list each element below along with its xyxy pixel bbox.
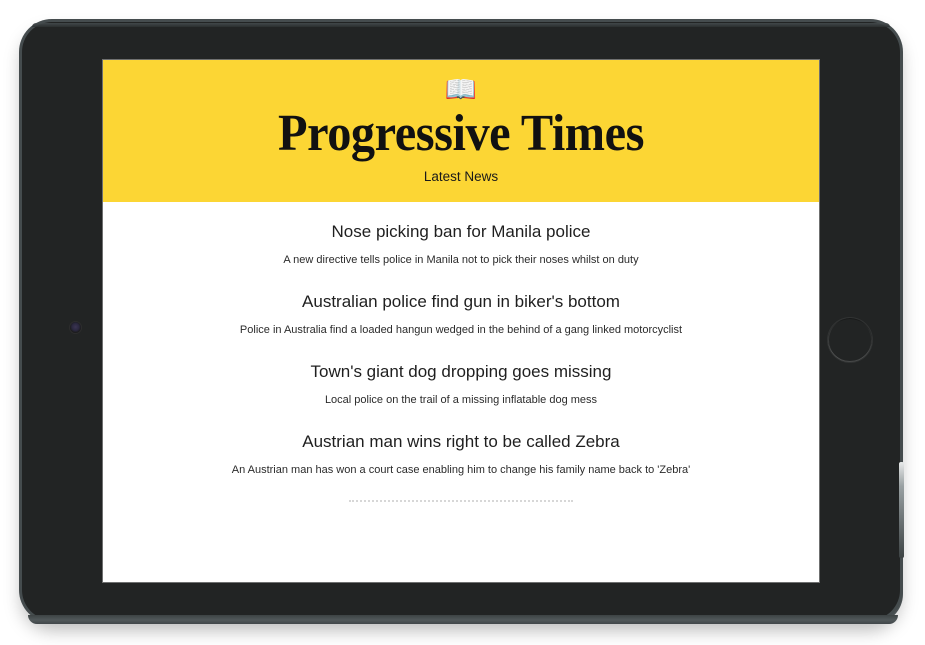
tablet-device: 📖 Progressive Times Latest News Nose pic… <box>22 22 900 620</box>
list-item[interactable]: Nose picking ban for Manila police A new… <box>103 220 819 268</box>
page-title: Progressive Times <box>128 106 794 162</box>
power-button[interactable] <box>899 462 904 558</box>
article-headline[interactable]: Australian police find gun in biker's bo… <box>203 290 719 314</box>
article-headline[interactable]: Town's giant dog dropping goes missing <box>203 360 719 384</box>
article-summary: Local police on the trail of a missing i… <box>205 392 717 408</box>
masthead: 📖 Progressive Times Latest News <box>103 60 819 202</box>
list-item[interactable]: Australian police find gun in biker's bo… <box>103 290 819 338</box>
device-bottom-edge <box>28 615 898 624</box>
home-button[interactable] <box>828 318 872 362</box>
device-scene: 📖 Progressive Times Latest News Nose pic… <box>0 0 925 645</box>
list-divider <box>349 500 573 502</box>
tablet-screen: 📖 Progressive Times Latest News Nose pic… <box>103 60 819 582</box>
article-list: Nose picking ban for Manila police A new… <box>103 202 819 502</box>
article-headline[interactable]: Nose picking ban for Manila police <box>203 220 719 244</box>
list-item[interactable]: Town's giant dog dropping goes missing L… <box>103 360 819 408</box>
device-top-edge <box>32 23 890 27</box>
article-summary: Police in Australia find a loaded hangun… <box>205 322 717 338</box>
list-item[interactable]: Austrian man wins right to be called Zeb… <box>103 430 819 478</box>
camera-icon <box>70 322 81 333</box>
article-headline[interactable]: Austrian man wins right to be called Zeb… <box>203 430 719 454</box>
masthead-subtitle: Latest News <box>103 168 819 186</box>
article-summary: A new directive tells police in Manila n… <box>205 252 717 268</box>
open-book-icon: 📖 <box>103 74 819 104</box>
article-summary: An Austrian man has won a court case ena… <box>205 462 717 478</box>
